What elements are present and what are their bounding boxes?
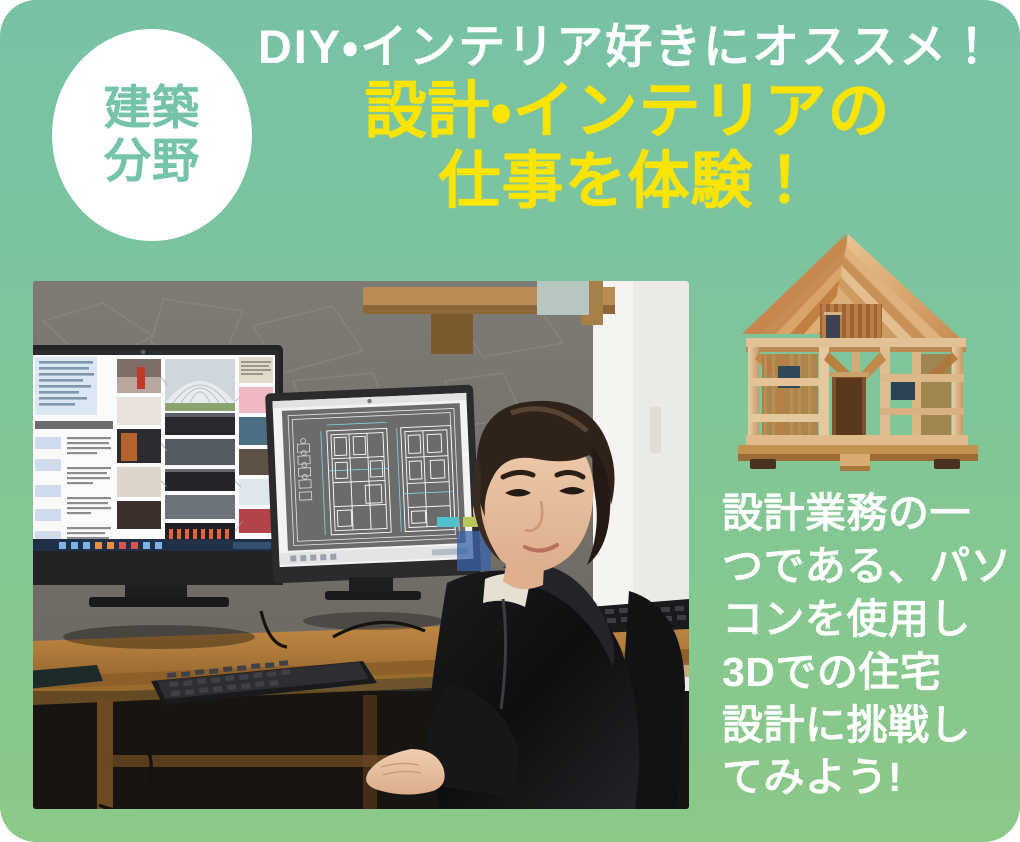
category-badge: 建築 分野 <box>52 29 252 241</box>
kicker-text: DIY・インテリア好きにオススメ！ <box>255 22 1000 73</box>
badge-line-1: 建築 <box>104 82 200 135</box>
desc-line-2: つである、パソ <box>722 540 1012 593</box>
description-text: 設計業務の一 つである、パソ コンを使用し 3Dでの住宅 設計に挑戦し てみよう… <box>722 487 1012 804</box>
desc-line-4: 3Dでの住宅 <box>722 646 1012 699</box>
title-line-1: 設計・インテリアの <box>255 77 1000 148</box>
house-model-image <box>716 226 1006 476</box>
photo-illustration <box>33 281 689 809</box>
promo-banner: 建築 分野 DIY・インテリア好きにオススメ！ 設計・インテリアの 仕事を体験！ <box>0 0 1020 842</box>
page-title: 設計・インテリアの 仕事を体験！ <box>255 77 1000 218</box>
title-line-2: 仕事を体験！ <box>255 147 1000 218</box>
desc-line-5: 設計に挑戦し <box>722 699 1012 752</box>
badge-line-2: 分野 <box>104 135 200 188</box>
desc-line-1: 設計業務の一 <box>722 487 1012 540</box>
house-model-illustration <box>716 226 1006 476</box>
desc-line-6: てみよう! <box>722 751 1012 804</box>
heading-block: DIY・インテリア好きにオススメ！ 設計・インテリアの 仕事を体験！ <box>255 22 1000 218</box>
student-photo <box>33 281 689 809</box>
desc-line-3: コンを使用し <box>722 593 1012 646</box>
